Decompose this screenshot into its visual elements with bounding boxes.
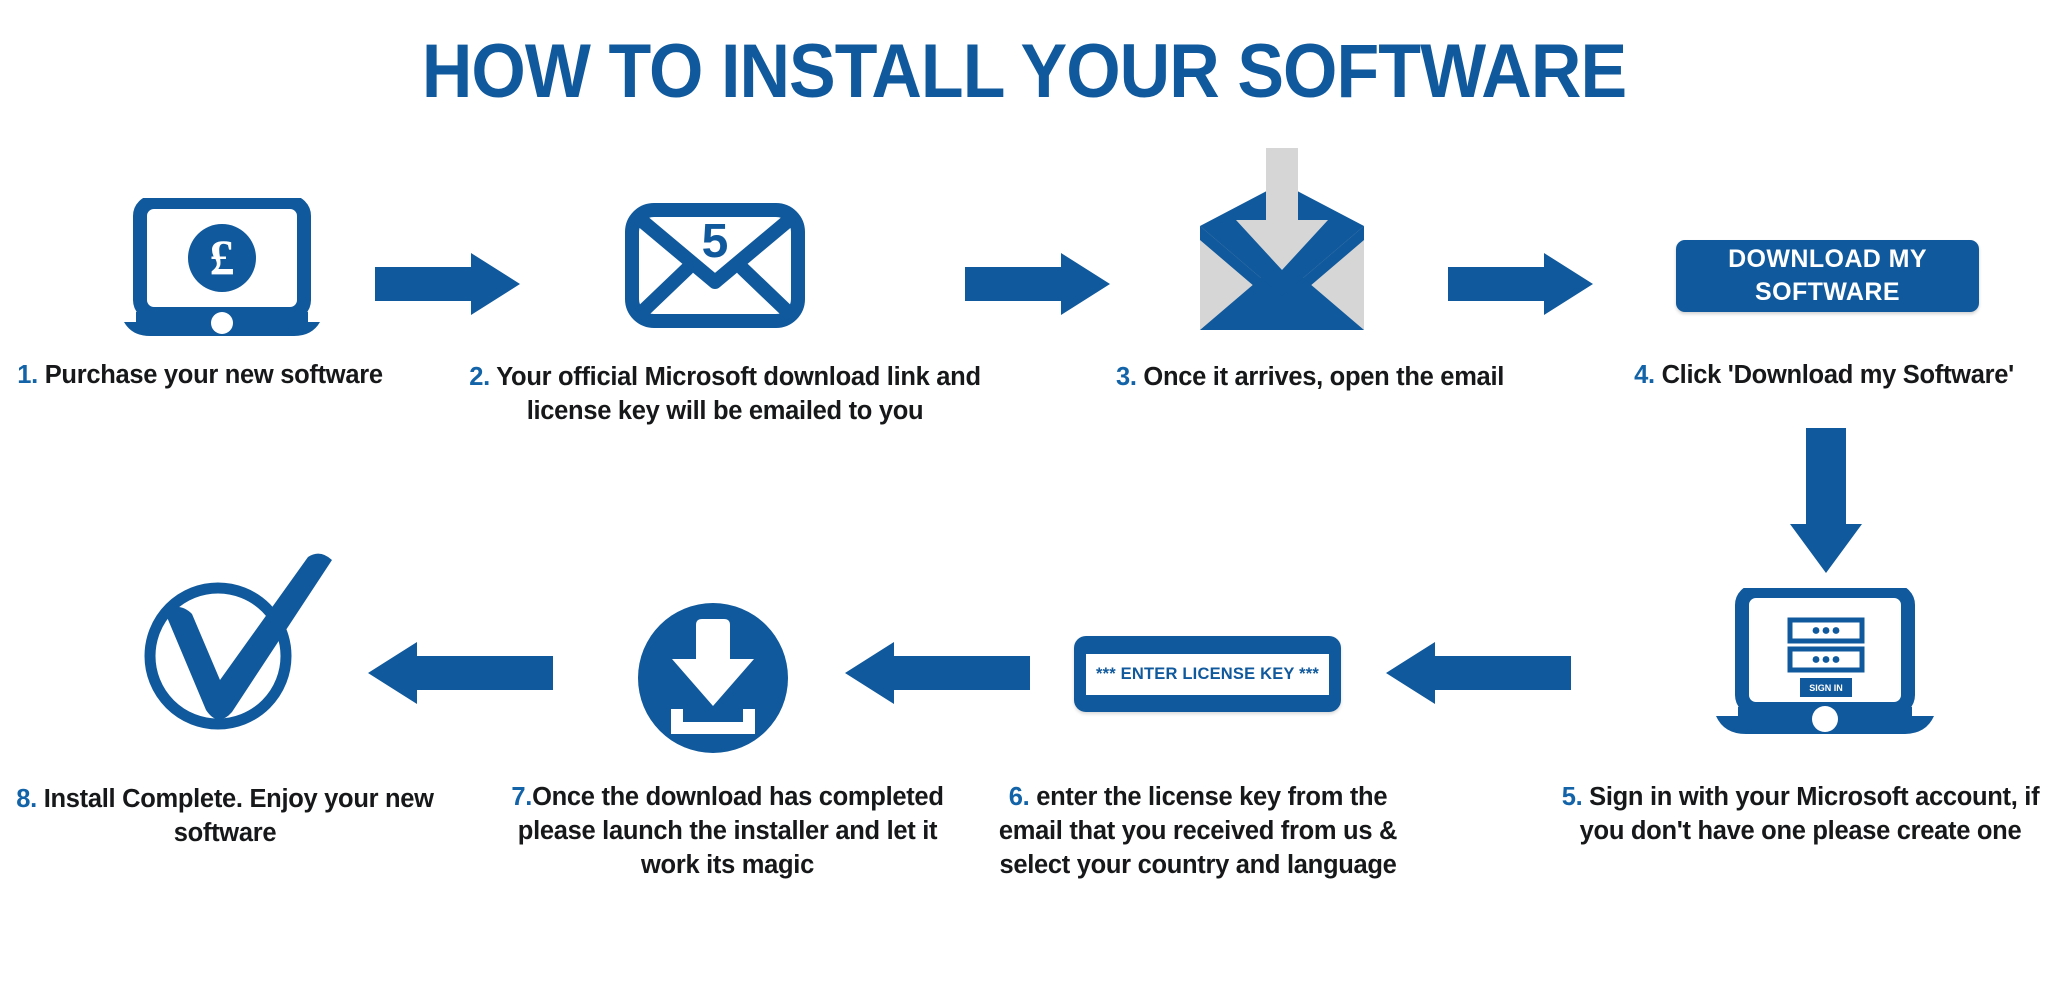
step-4-number: 4. xyxy=(1634,361,1655,389)
step-5-number: 5. xyxy=(1562,783,1583,811)
download-my-software-button[interactable]: DOWNLOAD MY SOFTWARE xyxy=(1676,240,1979,312)
step-7-caption: 7.Once the download has completed please… xyxy=(495,780,960,882)
arrow-left-icon xyxy=(1386,642,1571,704)
step-5-text: Sign in with your Microsoft account, if … xyxy=(1580,783,2040,845)
arrow-left-icon xyxy=(368,642,553,704)
step-6-number: 6. xyxy=(1009,783,1030,811)
download-button-line-1: DOWNLOAD MY xyxy=(1728,243,1927,276)
step-2-number: 2. xyxy=(469,363,490,391)
infographic-canvas: HOW TO INSTALL YOUR SOFTWARE £ 5 xyxy=(0,0,2048,983)
step-1-caption: 1. Purchase your new software xyxy=(0,358,400,392)
svg-text:£: £ xyxy=(210,229,235,285)
license-key-field[interactable]: *** ENTER LICENSE KEY *** xyxy=(1086,654,1329,695)
page-title: HOW TO INSTALL YOUR SOFTWARE xyxy=(82,28,1966,115)
step-4-caption: 4. Click 'Download my Software' xyxy=(1600,358,2048,392)
arrow-right-icon xyxy=(375,253,520,315)
step-3-text: Once it arrives, open the email xyxy=(1137,363,1504,391)
arrow-down-icon xyxy=(1790,428,1862,573)
step-7-number: 7. xyxy=(511,783,532,811)
envelope-badge-count: 5 xyxy=(702,215,729,268)
step-1-text: Purchase your new software xyxy=(38,361,383,389)
step-6-text: enter the license key from the email tha… xyxy=(999,783,1397,879)
license-key-value: *** ENTER LICENSE KEY *** xyxy=(1096,665,1319,684)
step-8-number: 8. xyxy=(16,785,37,813)
check-circle-icon xyxy=(140,552,340,732)
download-button-line-2: SOFTWARE xyxy=(1728,276,1927,309)
arrow-right-icon xyxy=(965,253,1110,315)
arrow-left-icon xyxy=(845,642,1030,704)
step-2-caption: 2. Your official Microsoft download link… xyxy=(465,360,985,428)
step-6-caption: 6. enter the license key from the email … xyxy=(988,780,1408,882)
laptop-sign-in-label: SIGN IN xyxy=(1809,683,1843,693)
envelope-badge-icon: 5 xyxy=(625,203,805,328)
laptop-sign-in-icon: SIGN IN xyxy=(1714,588,1936,736)
arrow-right-icon xyxy=(1448,253,1593,315)
step-5-caption: 5. Sign in with your Microsoft account, … xyxy=(1553,780,2048,848)
step-1-number: 1. xyxy=(17,361,38,389)
step-4-text: Click 'Download my Software' xyxy=(1655,361,2014,389)
download-circle-icon xyxy=(638,603,788,753)
open-email-download-icon xyxy=(1182,148,1382,333)
step-2-text: Your official Microsoft download link an… xyxy=(490,363,981,425)
step-8-caption: 8. Install Complete. Enjoy your new soft… xyxy=(0,782,450,850)
step-8-text: Install Complete. Enjoy your new softwar… xyxy=(37,785,434,847)
step-7-text: Once the download has completed please l… xyxy=(518,783,944,879)
license-key-box[interactable]: *** ENTER LICENSE KEY *** xyxy=(1074,636,1341,712)
step-3-caption: 3. Once it arrives, open the email xyxy=(1070,360,1550,394)
laptop-pound-icon: £ xyxy=(122,198,322,338)
step-3-number: 3. xyxy=(1116,363,1137,391)
